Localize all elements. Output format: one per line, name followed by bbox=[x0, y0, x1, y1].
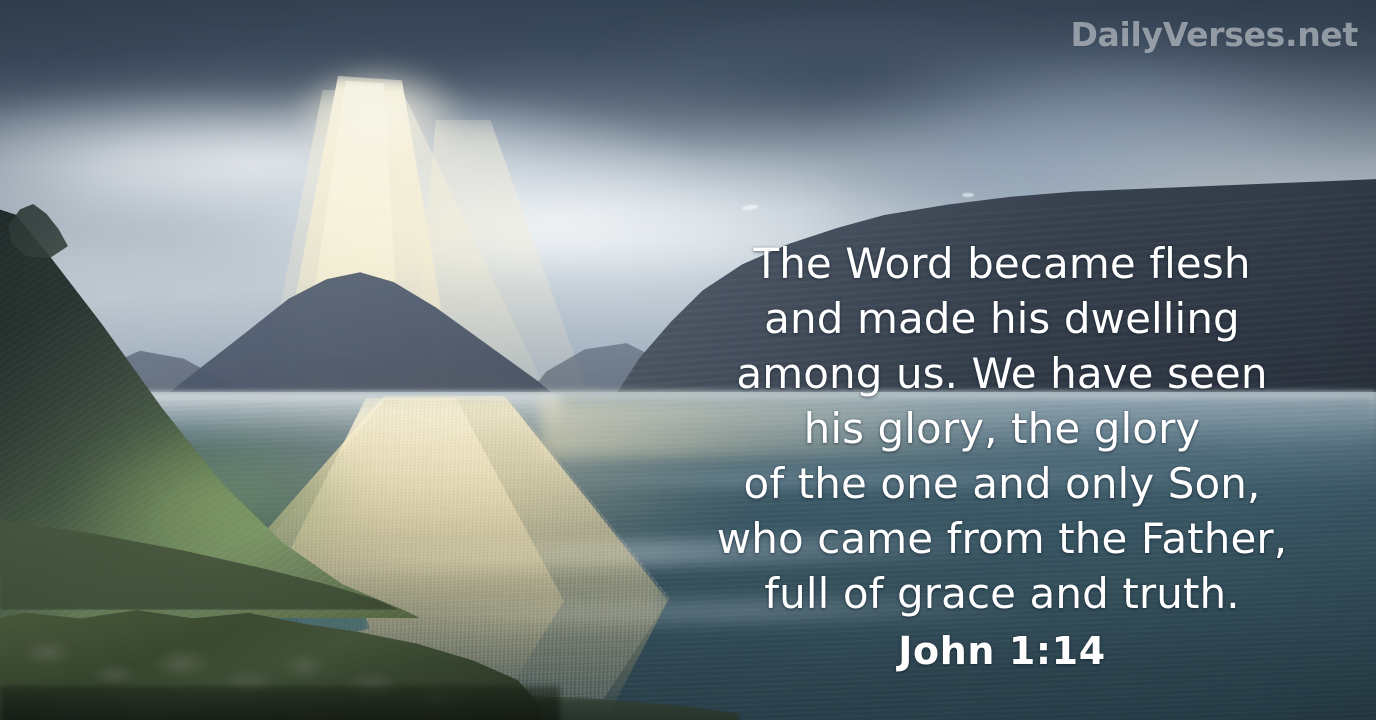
verse-line: full of grace and truth. bbox=[712, 566, 1292, 621]
verse-line: The Word became flesh bbox=[712, 236, 1292, 291]
dailyverses-watermark: DailyVerses.net bbox=[1070, 15, 1358, 54]
sun-ray-origin-glow bbox=[268, 62, 488, 182]
verse-line: among us. We have seen bbox=[712, 346, 1292, 401]
verse-image-card: DailyVerses.net The Word became flesh an… bbox=[0, 0, 1376, 720]
verse-line: and made his dwelling bbox=[712, 291, 1292, 346]
verse-line: his glory, the glory bbox=[712, 401, 1292, 456]
verse-line: who came from the Father, bbox=[712, 511, 1292, 566]
verse-line: of the one and only Son, bbox=[712, 456, 1292, 511]
foreground-rock-shadow bbox=[0, 686, 560, 720]
verse-text-block: The Word became flesh and made his dwell… bbox=[712, 236, 1292, 674]
snow-patch bbox=[962, 193, 974, 197]
verse-reference: John 1:14 bbox=[712, 628, 1292, 674]
